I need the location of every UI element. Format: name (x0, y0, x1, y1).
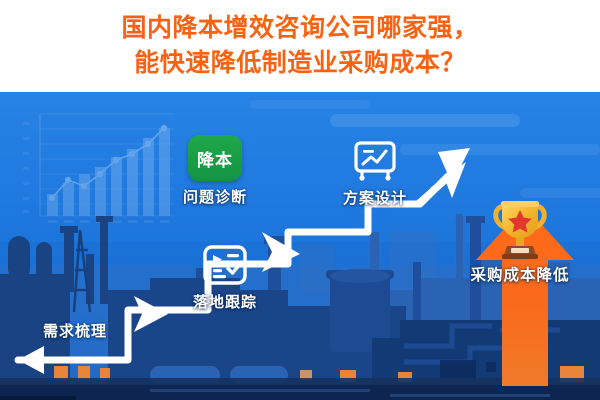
infographic-banner: 国内降本增效咨询公司哪家强， 能快速降低制造业采购成本？ (0, 0, 600, 400)
flow-node-result-label: 采购成本降低 (440, 263, 600, 285)
title-line-2: 能快速降低制造业采购成本？ (134, 46, 466, 81)
flow-node-need-label: 需求梳理 (5, 320, 145, 341)
flow-node-tracking[interactable]: 落地跟踪 (160, 244, 290, 312)
presentation-chart-icon (352, 140, 398, 182)
page-title: 国内降本增效咨询公司哪家强， 能快速降低制造业采购成本？ (0, 0, 600, 92)
trophy-icon (489, 197, 551, 261)
flow-node-need[interactable]: 需求梳理 (5, 320, 145, 341)
flow-node-diagnosis[interactable]: 降本 问题诊断 (150, 135, 280, 207)
illustration-panel: 需求梳理 降本 问题诊断 落地跟踪 (0, 92, 600, 400)
flow-node-plan-label: 方案设计 (315, 187, 435, 208)
title-line-1: 国内降本增效咨询公司哪家强， (121, 11, 478, 46)
checklist-icon (202, 244, 248, 286)
flow-node-diagnosis-label: 问题诊断 (150, 186, 280, 207)
flow-node-result[interactable]: 采购成本降低 (440, 197, 600, 285)
flow-node-plan[interactable]: 方案设计 (315, 140, 435, 208)
cost-down-badge-icon: 降本 (188, 135, 242, 181)
cost-down-badge-text: 降本 (197, 146, 233, 171)
flow-node-tracking-label: 落地跟踪 (160, 291, 290, 312)
